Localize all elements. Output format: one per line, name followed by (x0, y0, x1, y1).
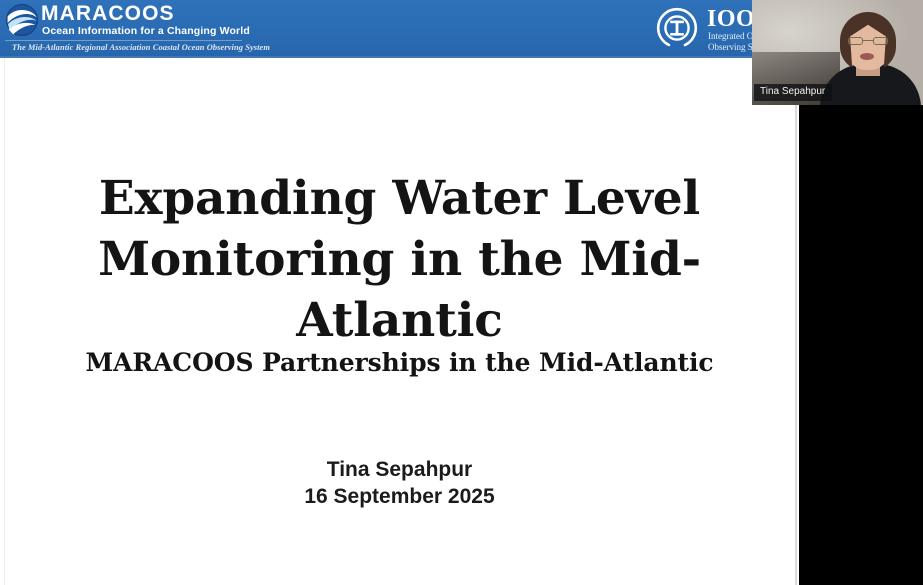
slide-title-line-2: Monitoring in the Mid-Atlantic (12, 229, 787, 351)
black-filler-lower-right (799, 105, 923, 585)
glasses-lens-right (873, 37, 888, 45)
glasses-lens-left (848, 37, 863, 45)
ioos-circle-logo-icon (655, 6, 699, 50)
participant-webcam-figure (818, 8, 923, 105)
slide-right-border (795, 58, 797, 585)
slide-subtitle: MARACOOS Partnerships in the Mid-Atlanti… (12, 346, 787, 380)
figure-glasses-icon (848, 37, 888, 45)
slide-title: Expanding Water Level Monitoring in the … (12, 168, 787, 351)
figure-mouth (860, 53, 874, 60)
slide-left-border (4, 58, 5, 585)
maracoos-wave-logo-icon (6, 4, 38, 36)
presentation-slide: MARACOOS Ocean Information for a Changin… (0, 0, 799, 585)
screen-root: MARACOOS Ocean Information for a Changin… (0, 0, 923, 585)
presenter-name: Tina Sepahpur (12, 456, 787, 483)
slide-presenter-block: Tina Sepahpur 16 September 2025 (12, 456, 787, 510)
presenter-date: 16 September 2025 (12, 483, 787, 510)
maracoos-divider-rule (5, 40, 242, 41)
participant-video-tile[interactable]: Tina Sepahpur (752, 0, 923, 105)
slide-subtitle-text: MARACOOS Partnerships in the Mid-Atlanti… (12, 346, 787, 380)
maracoos-subtagline: The Mid-Atlantic Regional Association Co… (12, 43, 270, 52)
participant-name-label: Tina Sepahpur (754, 84, 832, 101)
slide-title-line-1: Expanding Water Level (12, 168, 787, 229)
maracoos-wordmark: MARACOOS (41, 3, 175, 25)
glasses-bridge (863, 40, 873, 41)
maracoos-logo-lockup: MARACOOS Ocean Information for a Changin… (5, 2, 245, 56)
slide-header-band: MARACOOS Ocean Information for a Changin… (0, 0, 799, 58)
maracoos-tagline: Ocean Information for a Changing World (42, 25, 250, 37)
